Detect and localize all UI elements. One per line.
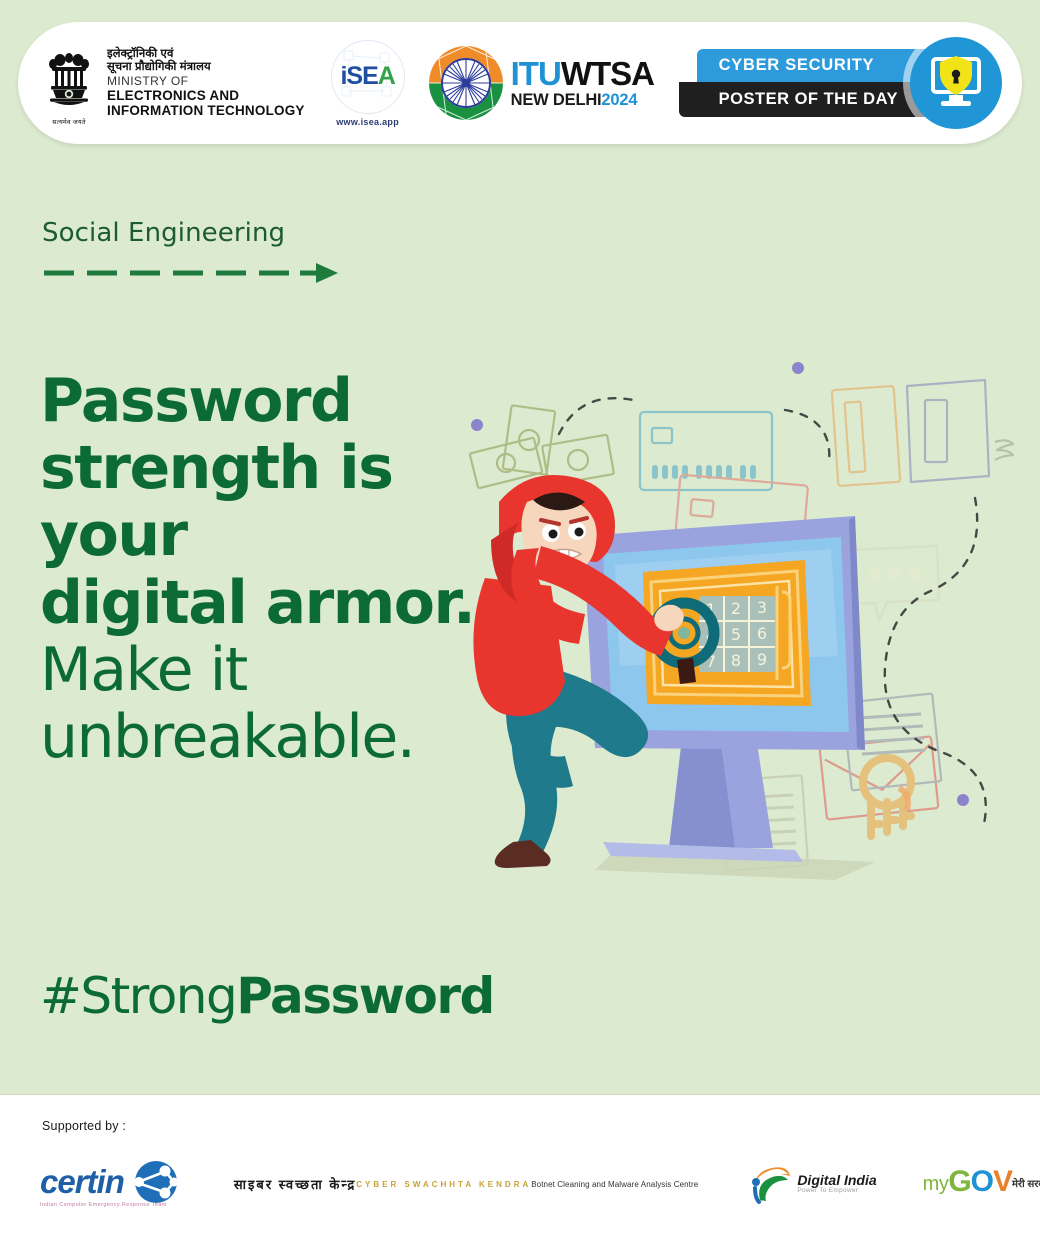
itu-subtitle: NEW DELHI — [511, 91, 602, 109]
mygov-gov: GOV — [948, 1167, 1012, 1197]
ministry-english-1: MINISTRY OF — [107, 75, 305, 88]
csk-hindi: साइबर स्वच्छता केन्द्र — [234, 1175, 356, 1193]
headline-line-2: strength is — [40, 435, 510, 502]
ministry-hindi-2: सूचना प्रौद्योगिकी मंत्रालय — [107, 61, 305, 74]
dot-icon — [471, 419, 483, 431]
category-label: Social Engineering — [42, 218, 342, 248]
isea-logo: iSEA www.isea.app — [331, 40, 405, 127]
computer-monitor: 123 456 789 — [583, 516, 875, 880]
cert-in-mark: certin — [40, 1160, 180, 1204]
credit-card-icon — [832, 386, 901, 486]
itu-title-blue: ITU — [511, 55, 561, 92]
cert-in-tagline: Indian Computer Emergency Response Team — [40, 1202, 167, 1208]
digital-india-text: Digital India Power To Empower — [797, 1173, 876, 1195]
header-bar: सत्यमेव जयते इलेक्ट्रॉनिकी एवं सूचना प्र… — [18, 22, 1022, 144]
isea-circle-icon: iSEA — [331, 40, 405, 114]
cyber-swachhta-kendra-logo: साइबर स्वच्छता केन्द्र CYBER SWACHHTA KE… — [234, 1175, 698, 1193]
svg-text:2: 2 — [731, 599, 741, 618]
svg-text:8: 8 — [731, 651, 741, 670]
headline-line-1: Password — [40, 368, 510, 435]
svg-text:3: 3 — [757, 598, 767, 617]
headline-line-3: your — [40, 502, 510, 569]
headline-line-5: Make it — [40, 637, 510, 704]
headline-line-4: digital armor. — [40, 570, 510, 637]
ministry-english-2: ELECTRONICS AND — [107, 88, 305, 103]
itu-title-dark: WTSA — [561, 55, 654, 92]
monitor-shield-lock-icon — [910, 37, 1002, 129]
itu-subtitle-line: NEW DELHI2024 — [511, 92, 654, 109]
hashtag: #StrongPassword — [40, 967, 494, 1025]
ministry-hindi-1: इलेक्ट्रॉनिकी एवं — [107, 48, 305, 61]
category-block: Social Engineering — [42, 218, 342, 289]
isea-url: www.isea.app — [336, 117, 399, 127]
digital-india-title: Digital India — [797, 1173, 876, 1188]
banknote-icon — [503, 405, 555, 475]
dot-icon — [792, 362, 804, 374]
supported-by-label: Supported by : — [42, 1119, 126, 1133]
mygov-hindi: मेरी सरकार — [1012, 1180, 1040, 1190]
hashtag-bold-part: Password — [236, 967, 494, 1025]
mygov-my: my — [923, 1174, 949, 1194]
headline-line-6: unbreakable. — [40, 704, 510, 771]
india-state-emblem-icon: सत्यमेव जयते — [40, 40, 98, 126]
digital-india-swirl-icon — [746, 1162, 792, 1206]
svg-text:5: 5 — [731, 625, 741, 644]
svg-text:9: 9 — [757, 650, 767, 669]
ministry-logo-block: सत्यमेव जयते इलेक्ट्रॉनिकी एवं सूचना प्र… — [40, 40, 305, 126]
cert-in-wordmark: certin — [40, 1163, 124, 1201]
digital-india-tagline: Power To Empower — [797, 1188, 876, 1195]
hashtag-thin-part: #Strong — [40, 967, 236, 1025]
emblem-motto: सत्यमेव जयते — [52, 117, 85, 126]
itu-wtsa-logo: ITUWTSA NEW DELHI2024 — [427, 44, 654, 122]
cert-in-logo: certin — [40, 1160, 180, 1208]
ministry-english-3: INFORMATION TECHNOLOGY — [107, 103, 305, 118]
footer: Supported by : certin — [0, 1094, 1040, 1247]
supporter-logo-row: certin — [36, 1143, 1020, 1225]
dashed-arrow-right-icon — [42, 262, 342, 289]
document-icon — [995, 440, 1013, 460]
ashoka-chakra-icon — [427, 44, 505, 122]
chat-bubble-icon — [851, 546, 939, 620]
poster-canvas: सत्यमेव जयते इलेक्ट्रॉनिकी एवं सूचना प्र… — [0, 0, 1040, 1247]
headline: Password strength is your digital armor.… — [40, 368, 510, 771]
poster-of-the-day-badge: CYBER SECURITY POSTER OF THE DAY — [697, 37, 1002, 129]
csk-tagline: Botnet Cleaning and Malware Analysis Cen… — [531, 1180, 698, 1189]
svg-text:6: 6 — [757, 624, 767, 643]
itu-year: 2024 — [601, 91, 637, 109]
credit-card-icon — [640, 412, 772, 490]
digital-india-logo: Digital India Power To Empower — [746, 1162, 876, 1206]
document-icon — [907, 380, 989, 482]
ministry-name: इलेक्ट्रॉनिकी एवं सूचना प्रौद्योगिकी मंत… — [107, 48, 305, 118]
isea-wordmark: iSEA — [340, 62, 394, 91]
csk-english: CYBER SWACHHTA KENDRA — [356, 1180, 531, 1189]
dot-icon — [957, 794, 969, 806]
itu-wordmark: ITUWTSA NEW DELHI2024 — [511, 57, 654, 109]
keyring-icon — [863, 758, 911, 836]
mygov-logo: my GOV मेरी सरकार — [923, 1171, 1040, 1197]
itu-title-line: ITUWTSA — [511, 57, 654, 90]
cert-in-network-icon — [124, 1160, 180, 1204]
hacker-cracking-safe-illustration: 123 456 789 — [455, 350, 1030, 910]
